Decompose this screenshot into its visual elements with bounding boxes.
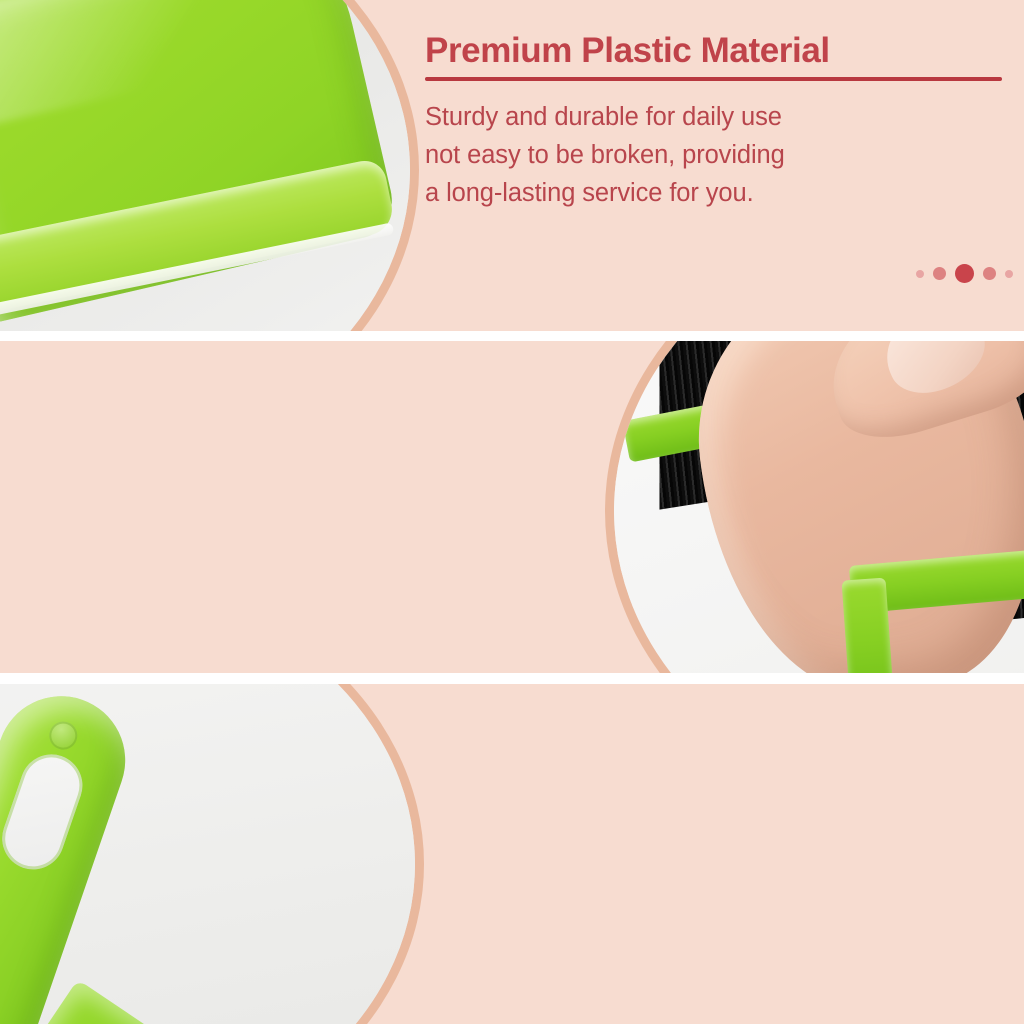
feature-body-1: Sturdy and durable for daily use not eas… <box>425 98 1005 213</box>
product-photo-handle <box>0 684 415 1024</box>
decorative-dot <box>1005 270 1013 278</box>
feature-panel-high-density-bristles: High Density Bristles Slim PET silk tigh… <box>0 341 1024 673</box>
photo-scene-handle <box>0 684 415 1024</box>
photo-scene-bristles <box>614 341 1024 673</box>
dustpan-highlight <box>0 0 259 130</box>
body-line: Sturdy and durable for daily use <box>425 103 782 131</box>
handle-rivet-top <box>46 718 82 754</box>
body-line: a long-lasting service for you. <box>425 179 754 207</box>
feature-text-block-1: Premium Plastic Material Sturdy and dura… <box>425 32 1005 213</box>
thumbnail-illustration <box>874 341 997 407</box>
feature-panel-easy-grip-handle: Easy-Grip Handle Allows you to grasp com… <box>0 684 1024 1024</box>
decorative-dot <box>933 267 946 280</box>
product-photo-dustpan <box>0 0 410 331</box>
decorative-dot <box>983 267 996 280</box>
decorative-dot <box>955 264 974 283</box>
body-line: not easy to be broken, providing <box>425 141 785 169</box>
photo-scene-dustpan <box>0 0 410 331</box>
thumb-illustration <box>813 341 1024 453</box>
heading-underline-1 <box>425 77 1002 81</box>
decorative-dot <box>916 270 924 278</box>
dot-decoration-1 <box>916 264 1013 283</box>
product-photo-bristles <box>614 341 1024 673</box>
hang-hole <box>0 746 91 878</box>
feature-panel-premium-plastic-material: Premium Plastic Material Sturdy and dura… <box>0 0 1024 331</box>
feature-heading-1: Premium Plastic Material <box>425 32 1005 70</box>
product-feature-infographic: Premium Plastic Material Sturdy and dura… <box>0 0 1024 1024</box>
